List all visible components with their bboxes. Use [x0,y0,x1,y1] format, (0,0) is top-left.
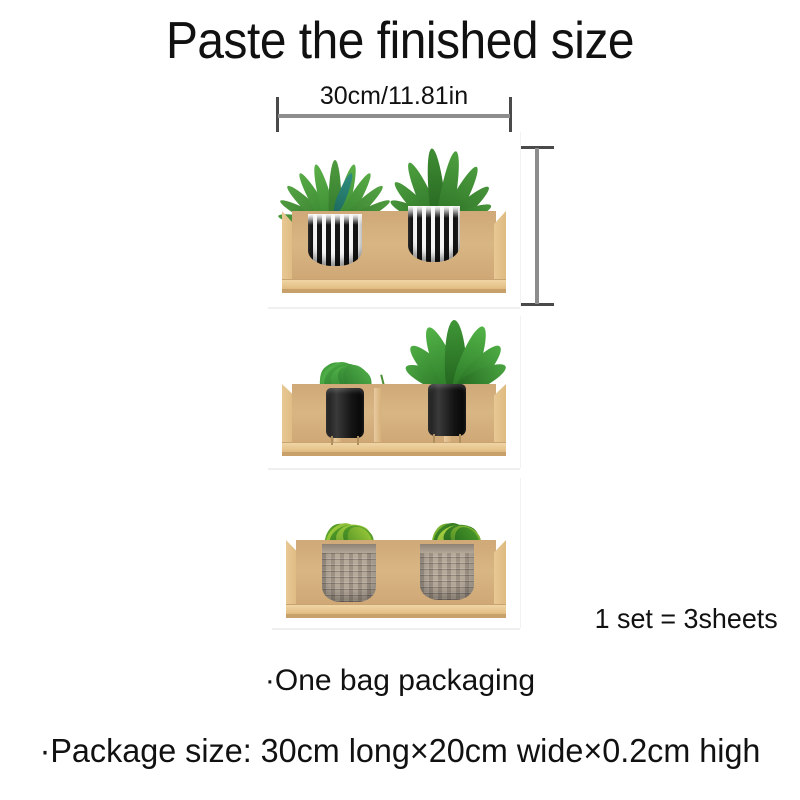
shelf-image-middle [268,316,520,468]
height-dimension-bar [535,148,539,304]
pot-striped-right [408,206,460,262]
shelf-front-lip [282,452,506,456]
height-dimension-line [518,146,554,306]
shelf-image-bottom [272,478,520,628]
shelf-front-lip [286,614,506,618]
shelf-divider-mid [374,388,381,443]
page-title: Paste the finished size [32,12,768,70]
shelf-bottom-board [286,604,506,618]
leaf [331,172,356,216]
pot-cylinder-left [326,388,364,438]
wooden-shelf-box [282,384,506,456]
pot-cylinder-right [428,384,466,436]
width-dimension-line [276,92,512,134]
shelf-bottom-board [282,442,506,456]
basket-left [322,544,376,602]
packaging-caption: ·One bag packaging [0,662,800,700]
shelf-bottom-board [282,279,506,293]
set-count-caption: 1 set = 3sheets [595,602,778,636]
basket-right [420,544,474,600]
width-dimension-bar [278,114,510,118]
shelf-front-lip [282,289,506,293]
package-size-caption: ·Package size: 30cm long×20cm wide×0.2cm… [8,730,792,772]
pot-striped-left [308,214,362,266]
shelf-image-top [268,132,520,307]
